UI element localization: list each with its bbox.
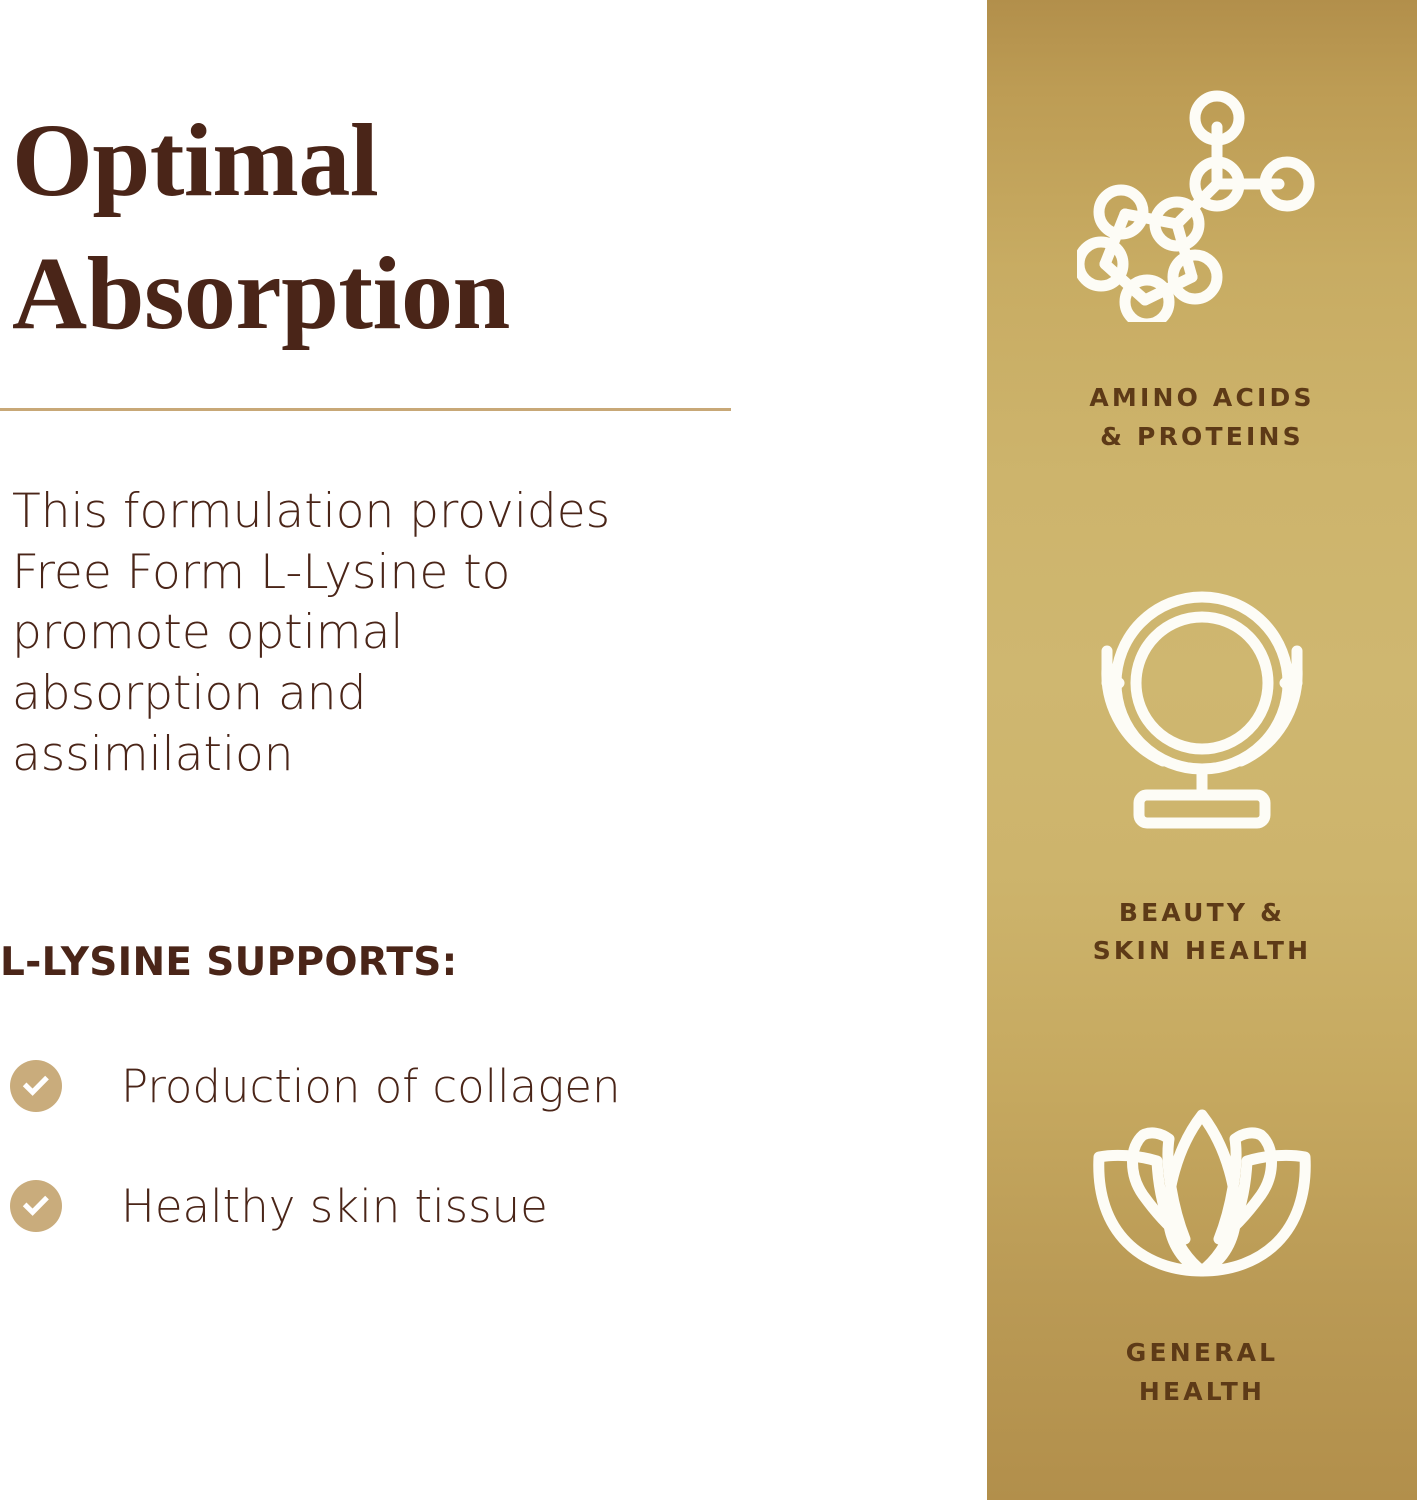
title-divider-rule <box>0 408 731 411</box>
list-item: Production of collagen <box>10 1060 830 1112</box>
product-benefits-infographic: Optimal Absorption This formulation prov… <box>0 0 1417 1500</box>
benefits-sidebar-panel: AMINO ACIDS & PROTEINS <box>987 0 1417 1500</box>
list-item-label: Production of collagen <box>121 1064 620 1109</box>
feature-label: AMINO ACIDS & PROTEINS <box>1089 379 1314 457</box>
description-paragraph: This formulation provides Free Form L-Ly… <box>12 482 622 785</box>
left-content-column: Optimal Absorption This formulation prov… <box>0 0 987 1500</box>
supports-heading: L-LYSINE SUPPORTS: <box>0 940 760 985</box>
feature-beauty-skin: BEAUTY & SKIN HEALTH <box>987 583 1417 972</box>
check-icon <box>10 1060 62 1112</box>
list-item: Healthy skin tissue <box>10 1180 830 1232</box>
vanity-mirror-icon <box>1077 583 1327 838</box>
lotus-flower-icon <box>1077 1099 1327 1294</box>
list-item-label: Healthy skin tissue <box>121 1184 548 1229</box>
feature-amino-acids: AMINO ACIDS & PROTEINS <box>987 72 1417 457</box>
page-title: Optimal Absorption <box>12 94 772 360</box>
feature-label: BEAUTY & SKIN HEALTH <box>1093 894 1312 972</box>
molecule-icon <box>1077 72 1327 327</box>
feature-label: GENERAL HEALTH <box>1126 1334 1279 1412</box>
supports-list: Production of collagen Healthy skin tiss… <box>10 1060 830 1300</box>
check-icon <box>10 1180 62 1232</box>
feature-general-health: GENERAL HEALTH <box>987 1099 1417 1412</box>
